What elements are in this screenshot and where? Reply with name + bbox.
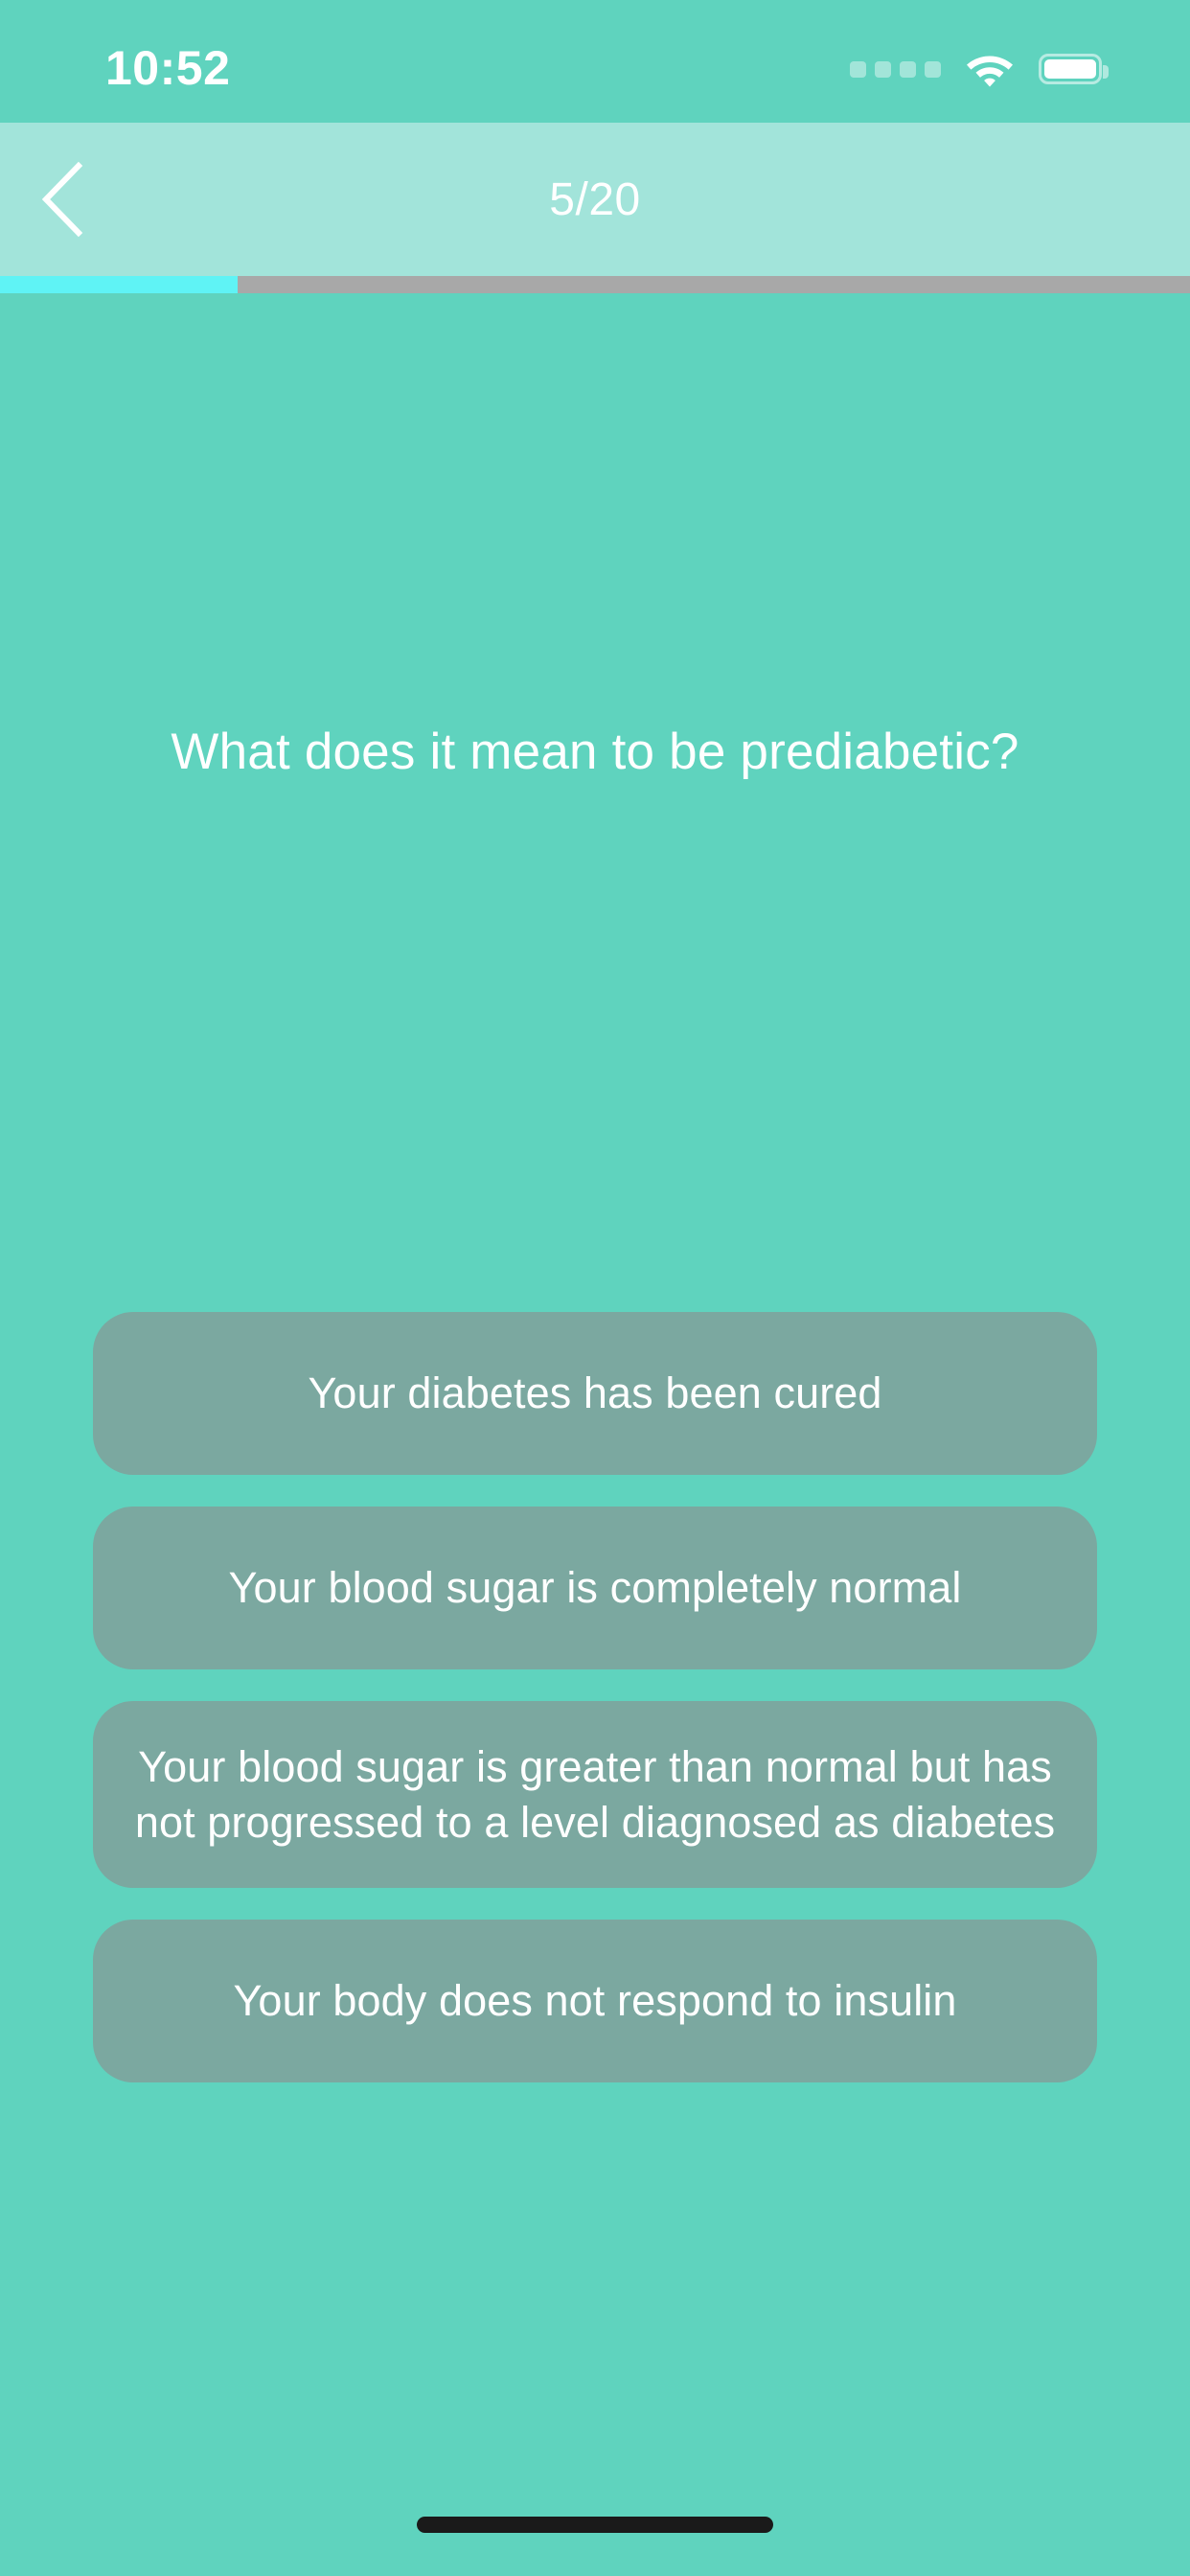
answer-options-list: Your diabetes has been curedYour blood s… xyxy=(93,1312,1097,2082)
wifi-icon xyxy=(966,51,1014,87)
question-container: What does it mean to be prediabetic? xyxy=(0,720,1190,785)
back-button[interactable] xyxy=(0,123,125,276)
question-counter: 5/20 xyxy=(549,173,640,226)
home-indicator[interactable] xyxy=(417,2517,773,2533)
progress-bar-track xyxy=(0,276,1190,293)
status-bar-indicators xyxy=(850,51,1102,87)
status-bar: 10:52 xyxy=(0,0,1190,123)
answer-option-2[interactable]: Your blood sugar is completely normal xyxy=(93,1506,1097,1669)
home-indicator-area xyxy=(0,2472,1190,2576)
answer-option-3[interactable]: Your blood sugar is greater than normal … xyxy=(93,1701,1097,1888)
answer-option-4[interactable]: Your body does not respond to insulin xyxy=(93,1920,1097,2082)
question-text: What does it mean to be prediabetic? xyxy=(67,720,1123,785)
progress-bar-fill xyxy=(0,276,238,293)
answer-option-1[interactable]: Your diabetes has been cured xyxy=(93,1312,1097,1475)
nav-bar: 5/20 xyxy=(0,123,1190,276)
cellular-signal-icon xyxy=(850,61,941,78)
quiz-screen: 10:52 5/20 xyxy=(0,0,1190,2576)
chevron-left-icon xyxy=(36,160,88,239)
status-bar-time: 10:52 xyxy=(105,40,230,96)
battery-icon xyxy=(1039,54,1102,84)
quiz-content: What does it mean to be prediabetic? You… xyxy=(0,293,1190,2576)
